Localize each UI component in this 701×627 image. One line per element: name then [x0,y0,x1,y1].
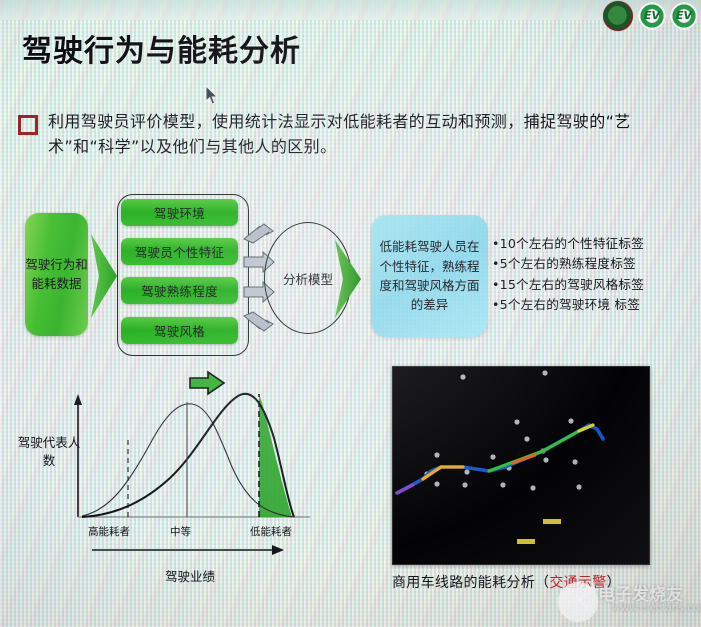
bullet-text: 利用驾驶员评价模型，使用统计法显示对低能耗者的互动和预测，捕捉驾驶的“艺术”和“… [48,110,678,160]
arrow-right-icon [243,311,275,333]
route-energy-map-image [392,366,650,565]
chart-y-axis-label: 驾驶代表人数 [14,434,84,469]
organization-logo-3: EV [670,2,698,30]
chart-plot [10,372,370,572]
source-data-label: 驾驶行为和能耗数据 [25,256,88,294]
result-bullet-list: •10个左右的个性特征标签 •5个左右的熟练程度标签 •15个左右的驾驶风格标签… [492,234,697,316]
chart-tick-label: 中等 [170,524,191,539]
watermark-url: www.elecfans.com [612,602,701,614]
watermark-logo-icon [558,582,598,622]
organization-logo-1 [603,1,633,31]
page-title: 驾驶行为与能耗分析 [22,26,301,70]
square-bullet-icon [18,115,38,135]
factor-label: 驾驶环境 [154,203,205,222]
chevron-arrow-right-icon [89,232,119,320]
caption-prefix: 商用车线路的能耗分析（ [392,575,549,591]
distribution-chart: 驾驶代表人数 驾驶业绩 高能耗者 中等 低能耗者 [10,372,370,602]
list-item: •5个左右的驾驶环境 标签 [492,295,697,315]
factor-box-proficiency: 驾驶熟练程度 [121,277,238,304]
arrow-right-icon [243,222,275,244]
chart-tick-label: 高能耗者 [88,524,130,539]
chevron-arrow-right-icon [333,238,363,320]
factor-box-style: 驾驶风格 [121,317,238,344]
chart-x-axis-label: 驾驶业绩 [130,566,250,585]
organization-logo-2: EV [638,2,666,30]
logo-3-text: EV [670,9,698,22]
top-band [0,0,701,20]
factor-box-environment: 驾驶环境 [121,199,238,226]
list-item: •15个左右的驾驶风格标签 [492,275,697,295]
result-label: 低能耗驾驶人员在个性特征，熟练程度和驾驶风格方面的差异 [376,237,483,315]
factor-label: 驾驶熟练程度 [141,281,218,300]
factor-label: 驾驶风格 [154,321,205,340]
logo-2-text: EV [638,9,666,22]
chart-tick-label: 低能耗者 [250,524,292,539]
list-item: •5个左右的熟练程度标签 [492,254,697,274]
analysis-model-label: 分析模型 [283,269,333,288]
factor-box-personality: 驾驶员个性特征 [121,238,238,265]
arrow-right-green-icon [188,370,226,396]
factor-label: 驾驶员个性特征 [135,242,225,261]
source-data-box: 驾驶行为和能耗数据 [25,213,88,336]
slide-canvas: EV EV 驾驶行为与能耗分析 利用驾驶员评价模型，使用统计法显示对低能耗者的互… [0,0,701,627]
list-item: •10个左右的个性特征标签 [492,234,697,254]
bullet-row: 利用驾驶员评价模型，使用统计法显示对低能耗者的互动和预测，捕捉驾驶的“艺术”和“… [18,110,678,160]
result-box: 低能耗驾驶人员在个性特征，熟练程度和驾驶风格方面的差异 [371,215,488,337]
mouse-cursor-icon [206,86,219,105]
